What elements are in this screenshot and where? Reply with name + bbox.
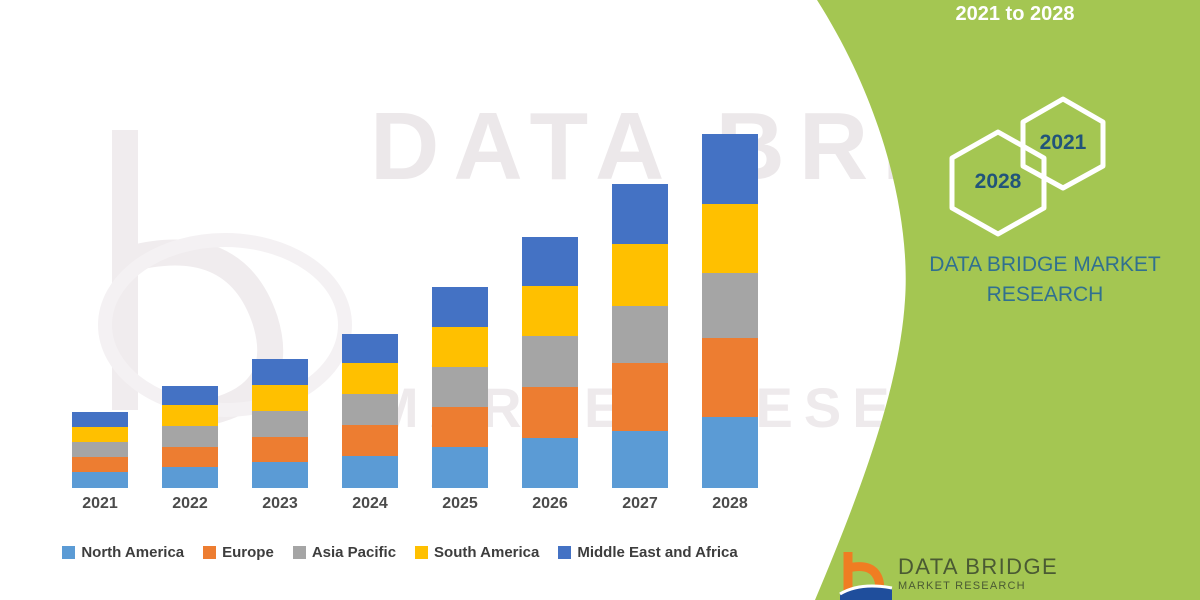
bar-segment[interactable] bbox=[432, 367, 488, 407]
bar-segment[interactable] bbox=[162, 386, 218, 405]
x-axis-tick-2021: 2021 bbox=[55, 495, 145, 513]
bar-segment[interactable] bbox=[612, 184, 668, 244]
bar-segment[interactable] bbox=[522, 438, 578, 488]
bar-column[interactable] bbox=[612, 184, 668, 488]
legend-item[interactable]: Europe bbox=[203, 544, 274, 561]
x-axis-tick-2025: 2025 bbox=[415, 495, 505, 513]
bar-segment[interactable] bbox=[432, 447, 488, 488]
legend-item[interactable]: Asia Pacific bbox=[293, 544, 396, 561]
data-bridge-logo: DATA BRIDGE MARKET RESEARCH bbox=[838, 548, 1138, 600]
legend-label: North America bbox=[81, 544, 184, 561]
brand-name-line1: DATA BRIDGE MARKET bbox=[885, 250, 1200, 280]
bar-segment[interactable] bbox=[72, 472, 128, 488]
bar-column[interactable] bbox=[342, 334, 398, 488]
panel-headline: Treatment Market, By Regions, 2021 to 20… bbox=[845, 0, 1185, 30]
legend-label: South America bbox=[434, 544, 539, 561]
bar-column[interactable] bbox=[702, 134, 758, 488]
bar-segment[interactable] bbox=[612, 363, 668, 431]
bar-segment[interactable] bbox=[432, 327, 488, 367]
x-axis-tick-2024: 2024 bbox=[325, 495, 415, 513]
legend-item[interactable]: South America bbox=[415, 544, 539, 561]
stacked-bar-chart bbox=[55, 90, 795, 488]
bar-segment[interactable] bbox=[612, 431, 668, 488]
x-axis-tick-2028: 2028 bbox=[685, 495, 775, 513]
bar-segment[interactable] bbox=[252, 411, 308, 437]
bar-segment[interactable] bbox=[162, 447, 218, 467]
bar-segment[interactable] bbox=[702, 273, 758, 338]
bar-column[interactable] bbox=[432, 287, 488, 488]
legend-swatch-icon bbox=[558, 546, 571, 559]
bar-segment[interactable] bbox=[252, 359, 308, 385]
bar-segment[interactable] bbox=[252, 462, 308, 488]
bar-segment[interactable] bbox=[612, 244, 668, 306]
bar-segment[interactable] bbox=[342, 363, 398, 394]
bar-segment[interactable] bbox=[342, 334, 398, 363]
legend-label: Asia Pacific bbox=[312, 544, 396, 561]
x-axis-tick-2026: 2026 bbox=[505, 495, 595, 513]
bar-segment[interactable] bbox=[702, 417, 758, 488]
bar-column[interactable] bbox=[162, 386, 218, 488]
bar-segment[interactable] bbox=[522, 387, 578, 438]
brand-name-line2: RESEARCH bbox=[885, 280, 1200, 310]
legend-label: Middle East and Africa bbox=[577, 544, 737, 561]
bar-segment[interactable] bbox=[342, 394, 398, 425]
bar-segment[interactable] bbox=[252, 385, 308, 411]
bar-segment[interactable] bbox=[702, 134, 758, 204]
bar-segment[interactable] bbox=[252, 437, 308, 462]
x-axis-tick-2023: 2023 bbox=[235, 495, 325, 513]
bar-segment[interactable] bbox=[702, 338, 758, 417]
bar-segment[interactable] bbox=[162, 405, 218, 426]
bar-segment[interactable] bbox=[702, 204, 758, 273]
hexagon-2021: 2021 bbox=[1015, 95, 1111, 191]
bar-segment[interactable] bbox=[162, 467, 218, 488]
hexagon-2021-label: 2021 bbox=[1015, 131, 1111, 155]
bar-segment[interactable] bbox=[72, 412, 128, 427]
legend-label: Europe bbox=[222, 544, 274, 561]
bar-segment[interactable] bbox=[342, 425, 398, 456]
bar-segment[interactable] bbox=[72, 442, 128, 457]
legend-swatch-icon bbox=[415, 546, 428, 559]
bar-segment[interactable] bbox=[72, 457, 128, 472]
bar-segment[interactable] bbox=[162, 426, 218, 447]
legend-swatch-icon bbox=[203, 546, 216, 559]
data-bridge-logo-subtitle: MARKET RESEARCH bbox=[898, 580, 1026, 592]
legend-swatch-icon bbox=[293, 546, 306, 559]
bar-column[interactable] bbox=[522, 237, 578, 488]
x-axis-tick-2027: 2027 bbox=[595, 495, 685, 513]
bar-segment[interactable] bbox=[522, 237, 578, 286]
bar-segment[interactable] bbox=[432, 287, 488, 327]
bar-column[interactable] bbox=[72, 412, 128, 488]
chart-legend: North AmericaEuropeAsia PacificSouth Ame… bbox=[0, 538, 800, 566]
legend-item[interactable]: Middle East and Africa bbox=[558, 544, 737, 561]
legend-item[interactable]: North America bbox=[62, 544, 184, 561]
data-bridge-logo-icon bbox=[838, 548, 896, 600]
hexagon-group: 2028 2021 bbox=[925, 95, 1125, 220]
bar-column[interactable] bbox=[252, 359, 308, 488]
bar-segment[interactable] bbox=[342, 456, 398, 488]
panel-headline-line2: 2021 to 2028 bbox=[845, 0, 1185, 30]
bar-segment[interactable] bbox=[612, 306, 668, 363]
data-bridge-logo-title: DATA BRIDGE bbox=[898, 554, 1058, 580]
bar-segment[interactable] bbox=[522, 336, 578, 387]
x-axis-tick-2022: 2022 bbox=[145, 495, 235, 513]
x-axis-labels: 20212022202320242025202620272028 bbox=[55, 495, 795, 523]
bar-segment[interactable] bbox=[432, 407, 488, 447]
bar-segment[interactable] bbox=[522, 286, 578, 336]
legend-swatch-icon bbox=[62, 546, 75, 559]
brand-name: DATA BRIDGE MARKET RESEARCH bbox=[885, 250, 1200, 310]
bar-segment[interactable] bbox=[72, 427, 128, 442]
